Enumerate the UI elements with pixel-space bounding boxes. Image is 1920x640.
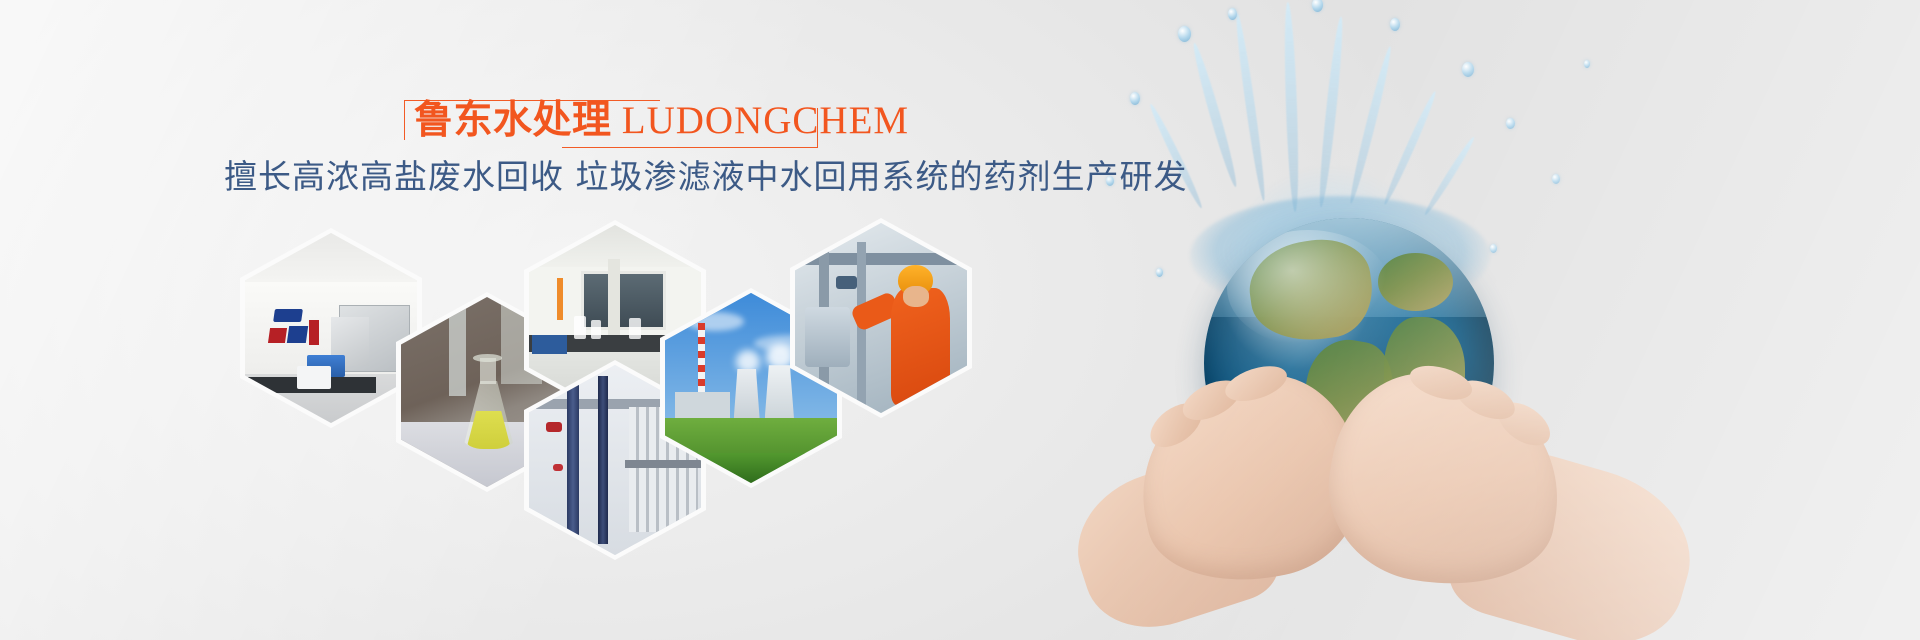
water-droplet [1390, 18, 1400, 31]
water-droplet [1462, 62, 1474, 77]
hexagon-tile-laboratory-room[interactable] [240, 228, 422, 428]
page-subtitle: 擅长高浓高盐废水回收 垃圾渗滤液中水回用系统的药剂生产研发 [224, 156, 1188, 198]
bracket-top-left-vertical [404, 100, 405, 140]
water-droplet [1584, 60, 1590, 68]
water-droplet [1178, 26, 1191, 42]
page-title-en: LUDONGCHEM [622, 99, 909, 142]
page-title: 鲁东水处理 LUDONGCHEM [414, 97, 909, 145]
water-droplet [1130, 92, 1140, 105]
water-droplet [1552, 174, 1560, 184]
globe-highlight [1227, 230, 1389, 346]
title-bracket-frame: 鲁东水处理 LUDONGCHEM [404, 100, 818, 148]
water-splash-globe-artwork [1060, 0, 1920, 640]
bracket-bottom-right-horizontal [562, 147, 818, 148]
photo-laboratory-room [245, 233, 417, 423]
water-droplet [1228, 8, 1237, 20]
page-title-cn: 鲁东水处理 [414, 99, 612, 142]
water-droplet [1156, 268, 1163, 277]
water-droplet [1506, 118, 1515, 129]
photo-field-worker [795, 223, 967, 413]
hero-banner: 鲁东水处理 LUDONGCHEM 擅长高浓高盐废水回收 垃圾渗滤液中水回用系统的… [0, 0, 1920, 640]
hexagon-photo-cluster [0, 0, 1060, 640]
